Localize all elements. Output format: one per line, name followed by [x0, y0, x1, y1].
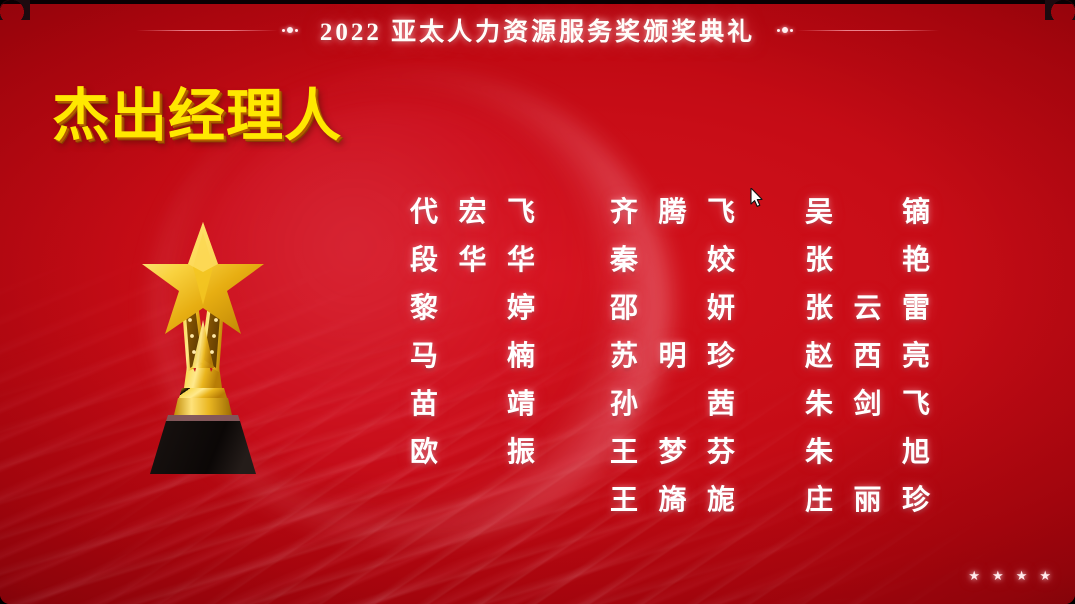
name-character: 腾 [658, 190, 686, 230]
name-character: 飞 [902, 382, 930, 422]
corner-star-ornament: ★★★★ [968, 569, 1051, 582]
name-character: 苗 [410, 382, 438, 422]
name-column-3: 吴镝张艳张云雷赵西亮朱剑飞朱旭庄丽珍 [805, 186, 970, 522]
ornament-dot [282, 29, 285, 32]
winner-name: 苏明珍 [610, 330, 735, 378]
name-character: 明 [658, 334, 686, 374]
ornament-dot [777, 29, 780, 32]
name-character: 靖 [507, 382, 535, 422]
winner-name: 邵妍 [610, 282, 735, 330]
star-trophy-icon [128, 212, 278, 502]
name-character: 黎 [410, 286, 438, 326]
name-character: 珍 [707, 334, 735, 374]
name-character: 艳 [902, 238, 930, 278]
name-character: 妍 [707, 286, 735, 326]
name-character: 秦 [610, 238, 638, 278]
winner-name: 朱剑飞 [805, 378, 930, 426]
event-title: 2022 亚太人力资源服务奖颁奖典礼 [302, 12, 773, 48]
name-character: 王 [610, 430, 638, 470]
winner-name: 孙茜 [610, 378, 735, 426]
winner-name: 段华华 [410, 234, 535, 282]
header-rule-right [797, 30, 939, 31]
name-character: 苏 [610, 334, 638, 374]
top-letterbox-bar [0, 0, 1075, 4]
name-character: 马 [410, 334, 438, 374]
ornament-dot [790, 29, 793, 32]
header-rule-left [136, 30, 278, 31]
name-character: 宏 [458, 190, 486, 230]
name-character: 姣 [707, 238, 735, 278]
name-character: 茜 [707, 382, 735, 422]
star-icon: ★ [968, 569, 980, 582]
name-character: 旭 [902, 430, 930, 470]
name-character: 欧 [410, 430, 438, 470]
name-character: 赵 [805, 334, 833, 374]
name-character: 西 [853, 334, 881, 374]
star-icon: ★ [1016, 569, 1028, 582]
star-icon: ★ [992, 569, 1004, 582]
name-character: 张 [805, 238, 833, 278]
winner-name: 庄丽珍 [805, 474, 930, 522]
name-column-1: 代宏飞段华华黎婷马楠苗靖欧振 [410, 186, 610, 522]
name-character: 吴 [805, 190, 833, 230]
name-character: 庄 [805, 478, 833, 518]
winner-name: 黎婷 [410, 282, 535, 330]
winner-name: 王梦芬 [610, 426, 735, 474]
name-character: 旎 [707, 478, 735, 518]
name-character: 王 [610, 478, 638, 518]
name-character: 丽 [853, 478, 881, 518]
name-character: 云 [853, 286, 881, 326]
name-character: 婷 [507, 286, 535, 326]
name-character: 镝 [902, 190, 930, 230]
name-character: 华 [507, 238, 535, 278]
name-character: 飞 [707, 190, 735, 230]
winner-name-columns: 代宏飞段华华黎婷马楠苗靖欧振 齐腾飞秦姣邵妍苏明珍孙茜王梦芬王旖旎 吴镝张艳张云… [410, 186, 970, 522]
award-category-heading: 杰出经理人 [52, 88, 342, 145]
name-character: 华 [458, 238, 486, 278]
name-character: 飞 [507, 190, 535, 230]
winner-name: 张艳 [805, 234, 930, 282]
star-icon: ★ [1039, 569, 1051, 582]
name-character: 珍 [902, 478, 930, 518]
winner-name: 秦姣 [610, 234, 735, 282]
name-character: 振 [507, 430, 535, 470]
winner-name: 代宏飞 [410, 186, 535, 234]
ornament-dot [782, 27, 788, 33]
name-column-2: 齐腾飞秦姣邵妍苏明珍孙茜王梦芬王旖旎 [610, 186, 805, 522]
ornament-dot [287, 27, 293, 33]
name-character: 梦 [658, 430, 686, 470]
name-character: 亮 [902, 334, 930, 374]
winner-name: 欧振 [410, 426, 535, 474]
name-character: 段 [410, 238, 438, 278]
header-ornament-left-icon [278, 27, 302, 33]
winner-name: 朱旭 [805, 426, 930, 474]
name-character: 孙 [610, 382, 638, 422]
name-character: 剑 [853, 382, 881, 422]
name-character: 楠 [507, 334, 535, 374]
name-character: 齐 [610, 190, 638, 230]
winner-name: 王旖旎 [610, 474, 735, 522]
name-character: 朱 [805, 430, 833, 470]
name-character: 芬 [707, 430, 735, 470]
ornament-dot [295, 29, 298, 32]
name-character: 张 [805, 286, 833, 326]
name-character: 代 [410, 190, 438, 230]
winner-name: 马楠 [410, 330, 535, 378]
name-character: 邵 [610, 286, 638, 326]
winner-name: 苗靖 [410, 378, 535, 426]
name-character: 雷 [902, 286, 930, 326]
header-band: 2022 亚太人力资源服务奖颁奖典礼 [0, 10, 1075, 50]
slide-frame: 2022 亚太人力资源服务奖颁奖典礼 杰出经理人 [0, 0, 1075, 604]
winner-name: 吴镝 [805, 186, 930, 234]
winner-name: 齐腾飞 [610, 186, 735, 234]
winner-name: 赵西亮 [805, 330, 930, 378]
name-character: 朱 [805, 382, 833, 422]
header-ornament-right-icon [773, 27, 797, 33]
name-character: 旖 [658, 478, 686, 518]
winner-name: 张云雷 [805, 282, 930, 330]
